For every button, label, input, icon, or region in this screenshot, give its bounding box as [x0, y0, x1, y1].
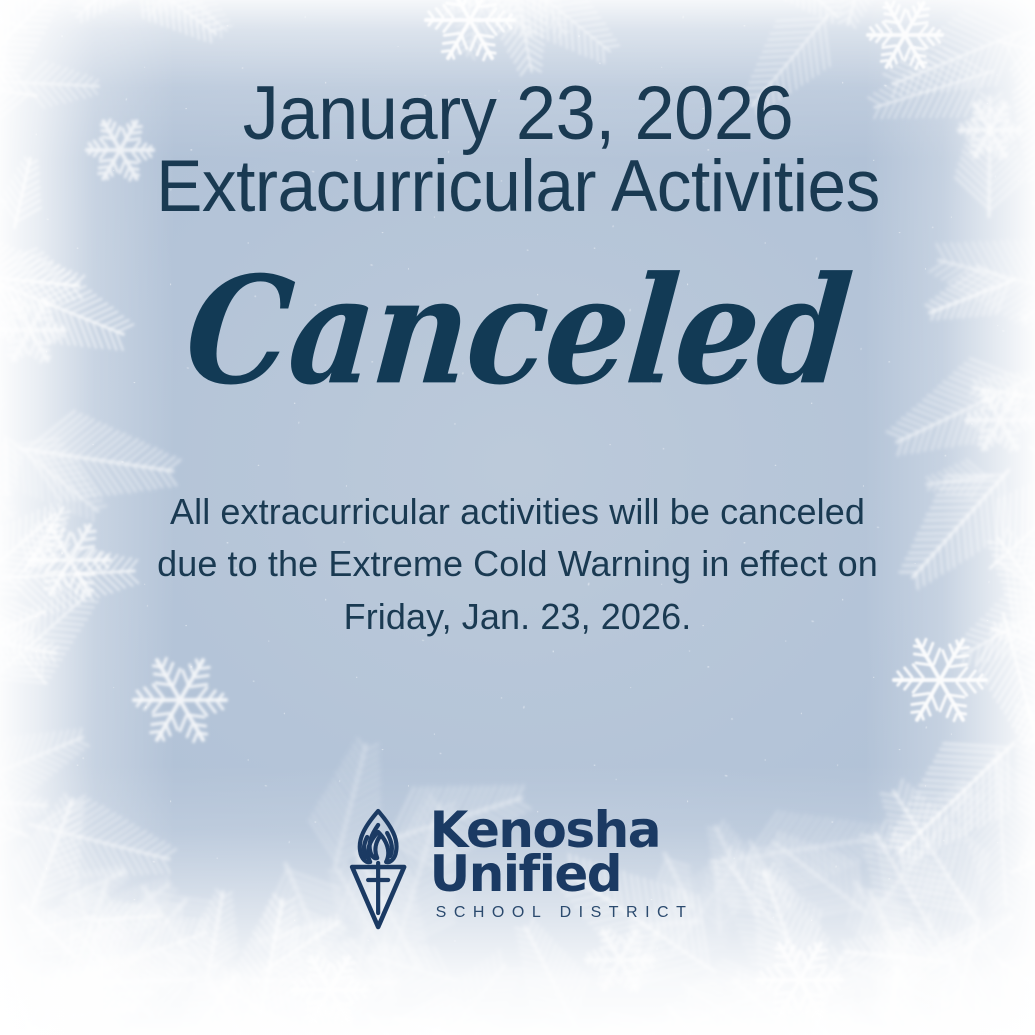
poster-content: January 23, 2026 Extracurricular Activit…	[0, 0, 1035, 1035]
body-line-3: Friday, Jan. 23, 2026.	[123, 591, 913, 644]
body-line-1: All extracurricular activities will be c…	[123, 486, 913, 539]
headline-date: January 23, 2026	[242, 71, 792, 156]
page-title: January 23, 2026 Extracurricular Activit…	[52, 76, 983, 224]
announcement-body: All extracurricular activities will be c…	[123, 486, 913, 644]
headline-subject: Extracurricular Activities	[52, 151, 983, 223]
winter-cancellation-poster: January 23, 2026 Extracurricular Activit…	[0, 0, 1035, 1035]
status-badge: Canceled	[180, 258, 854, 406]
body-line-2: due to the Extreme Cold Warning in effec…	[123, 538, 913, 591]
